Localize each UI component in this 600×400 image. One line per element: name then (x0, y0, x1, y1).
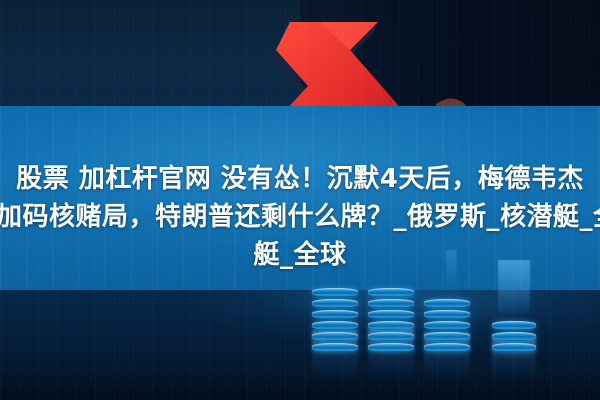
caption-text: 股票 加杠杆官网 没有怂！沉默4天后，梅德韦杰 加码核赌局，特朗普还剩什么牌？_… (0, 160, 600, 274)
caption-line-1: 股票 加杠杆官网 没有怂！沉默4天后，梅德韦杰 (0, 160, 600, 198)
caption-line-3: 艇_全球 (0, 236, 600, 274)
caption-line-2: 加码核赌局，特朗普还剩什么牌？_俄罗斯_核潜艇_全 (0, 198, 600, 236)
banner-image: 股票 加杠杆官网 没有怂！沉默4天后，梅德韦杰 加码核赌局，特朗普还剩什么牌？_… (0, 0, 600, 400)
background-band-bottom (0, 290, 600, 400)
